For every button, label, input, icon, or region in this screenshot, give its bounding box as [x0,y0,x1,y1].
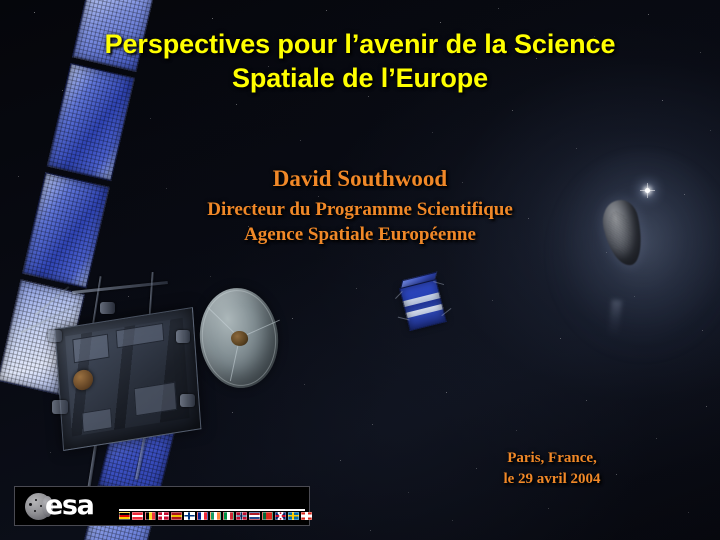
flag-ireland-icon [210,512,221,520]
flag-spain-icon [171,512,182,520]
flag-uk-icon [275,512,286,520]
instrument-pod [48,330,62,342]
title-line-2: Spatiale de l’Europe [0,61,720,95]
flag-switzerland-icon [301,512,312,520]
instrument-pod [52,400,68,414]
date-line: le 29 avril 2004 [402,469,702,490]
flag-finland-icon [184,512,195,520]
speaker-role-line-2: Agence Spatiale Européenne [0,222,720,247]
instrument-pod [100,302,115,314]
flag-denmark-icon [158,512,169,520]
presentation-slide: Perspectives pour l’avenir de la Science… [0,0,720,540]
flag-italy-icon [223,512,234,520]
place-line: Paris, France, [402,448,702,469]
flag-belgium-icon [145,512,156,520]
esa-logo: esa [14,486,310,526]
flag-netherlands-icon [249,512,260,520]
flag-austria-icon [132,512,143,520]
page-title: Perspectives pour l’avenir de la Science… [0,27,720,95]
instrument-pod [180,394,195,407]
flag-norway-icon [236,512,247,520]
speaker-role: Directeur du Programme Scientifique Agen… [0,197,720,247]
spacecraft-bus [55,307,202,451]
speaker-role-line-1: Directeur du Programme Scientifique [0,197,720,222]
flag-sweden-icon [288,512,299,520]
support-strut [92,276,101,324]
esa-rule [119,509,305,511]
instrument-pod [176,330,190,343]
esa-wordmark: esa [45,490,93,522]
flag-portugal-icon [262,512,273,520]
place-and-date: Paris, France, le 29 avril 2004 [402,448,702,490]
member-state-flags [119,512,312,520]
high-gain-antenna-dish [195,284,283,392]
title-line-1: Perspectives pour l’avenir de la Science [0,27,720,61]
flag-france-icon [197,512,208,520]
flag-germany-icon [119,512,130,520]
speaker-name: David Southwood [0,165,720,192]
